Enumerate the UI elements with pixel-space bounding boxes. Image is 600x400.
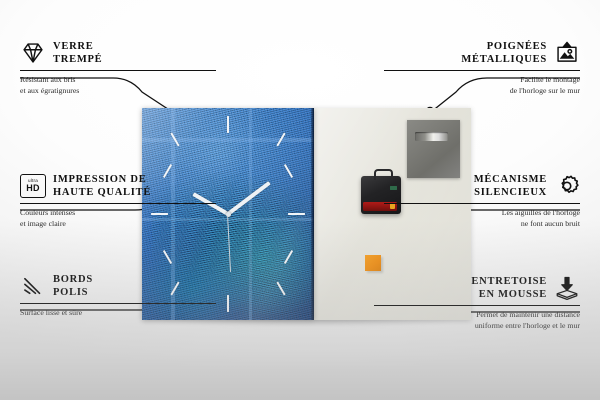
- callout-description: Permet de maintenir une distance uniform…: [370, 309, 580, 331]
- callout-rule: [20, 70, 216, 71]
- callout-header: MÉCANISME SILENCIEUX: [380, 173, 580, 200]
- callout-title: POIGNÉES MÉTALLIQUES: [461, 40, 547, 67]
- badge-hd-text: HD: [26, 184, 40, 193]
- callout-bords-polis[interactable]: BORDS POLIS Surface lisse et sûre: [20, 273, 220, 318]
- callout-mecanisme-silencieux[interactable]: MÉCANISME SILENCIEUX Les aiguilles de l'…: [380, 173, 580, 229]
- hanging-frame-icon: [554, 40, 580, 66]
- glass-edge: [311, 108, 314, 320]
- callout-rule: [384, 70, 580, 71]
- infographic-canvas: VERRE TREMPÉ Résistant aux bris et aux é…: [0, 0, 600, 400]
- callout-header: POIGNÉES MÉTALLIQUES: [380, 40, 580, 67]
- callout-header: ultra HD IMPRESSION DE HAUTE QUALITÉ: [20, 173, 220, 200]
- polished-edges-icon: [20, 273, 46, 299]
- callout-description: Couleurs intenses et image claire: [20, 207, 220, 229]
- callout-header: BORDS POLIS: [20, 273, 220, 300]
- foam-spacer: [365, 255, 381, 271]
- diamond-icon: [20, 40, 46, 66]
- callout-title: BORDS POLIS: [53, 273, 93, 300]
- hanger-plate: [407, 120, 460, 178]
- callout-verre-trempe[interactable]: VERRE TREMPÉ Résistant aux bris et aux é…: [20, 40, 220, 96]
- callout-poignees-metalliques[interactable]: POIGNÉES MÉTALLIQUES Facilite le montage…: [380, 40, 580, 96]
- gear-icon: [554, 173, 580, 199]
- callout-header: ENTRETOISE EN MOUSSE: [370, 275, 580, 302]
- callout-rule: [20, 203, 216, 204]
- callout-impression-haute-qualite[interactable]: ultra HD IMPRESSION DE HAUTE QUALITÉ Cou…: [20, 173, 220, 229]
- hanger-slot: [415, 132, 448, 141]
- callout-rule: [384, 203, 580, 204]
- callout-header: VERRE TREMPÉ: [20, 40, 220, 67]
- foam-spacer-arrow-icon: [554, 275, 580, 301]
- callout-title: MÉCANISME SILENCIEUX: [474, 173, 547, 200]
- callout-title: VERRE TREMPÉ: [53, 40, 102, 67]
- callout-description: Les aiguilles de l'horloge ne font aucun…: [380, 207, 580, 229]
- ultra-hd-badge-icon: ultra HD: [20, 174, 46, 198]
- clock-hand-hub: [226, 212, 231, 217]
- callout-title: IMPRESSION DE HAUTE QUALITÉ: [53, 173, 151, 200]
- callout-description: Facilite le montage de l'horloge sur le …: [380, 74, 580, 96]
- callout-title: ENTRETOISE EN MOUSSE: [471, 275, 547, 302]
- callout-entretoise-en-mousse[interactable]: ENTRETOISE EN MOUSSE Permet de maintenir…: [370, 275, 580, 331]
- callout-description: Résistant aux bris et aux égratignures: [20, 74, 220, 96]
- callout-rule: [374, 305, 580, 306]
- callout-rule: [20, 303, 216, 304]
- callout-description: Surface lisse et sûre: [20, 307, 220, 318]
